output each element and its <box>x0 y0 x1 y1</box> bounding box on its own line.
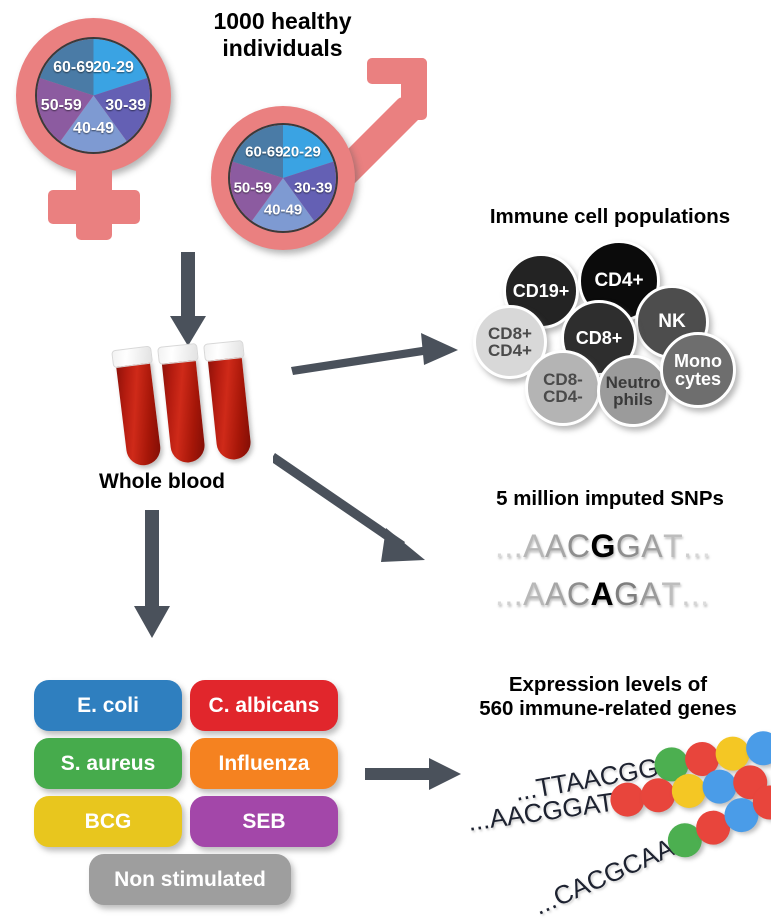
stimulus-e-coli[interactable]: E. coli <box>34 680 182 731</box>
figure-canvas: 1000 healthy individuals 20-2930-3940-49… <box>0 0 771 922</box>
section-title-gene-expression: Expression levels of 560 immune-related … <box>448 673 768 721</box>
stimuli-panel: E. coliC. albicansS. aureusInfluenzaBCGS… <box>0 0 771 922</box>
stimulus-bcg[interactable]: BCG <box>34 796 182 847</box>
stimulus-s-aureus[interactable]: S. aureus <box>34 738 182 789</box>
stimulus-non-stimulated[interactable]: Non stimulated <box>89 854 291 905</box>
stimulus-c-albicans[interactable]: C. albicans <box>190 680 338 731</box>
stimulus-seb[interactable]: SEB <box>190 796 338 847</box>
stimulus-influenza[interactable]: Influenza <box>190 738 338 789</box>
